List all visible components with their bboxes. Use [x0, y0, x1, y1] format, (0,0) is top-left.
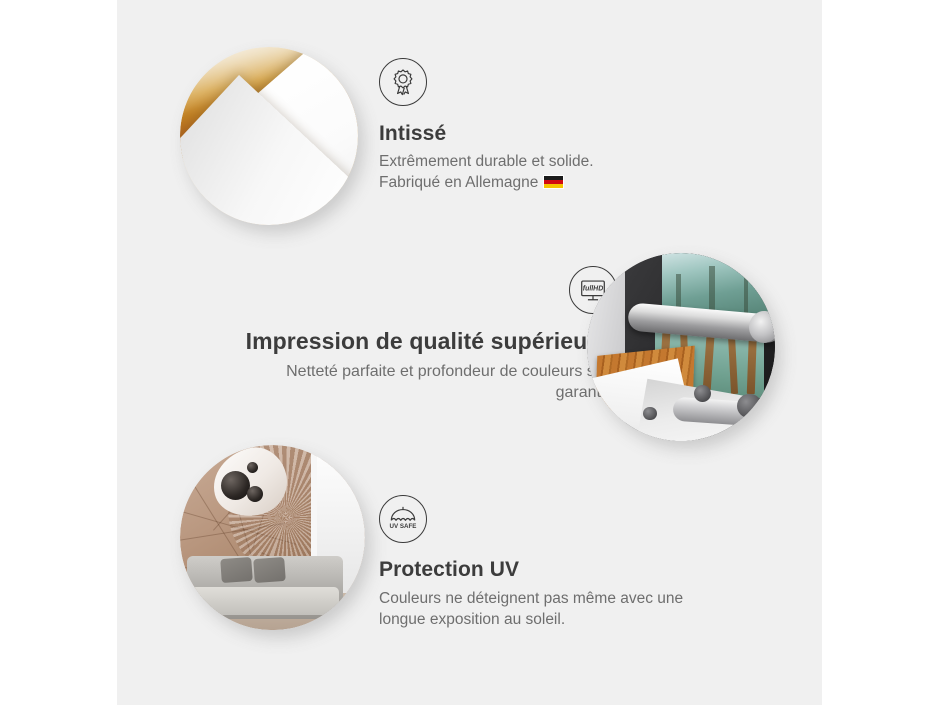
press-knob-one — [694, 385, 711, 402]
feature-quality: fullHD Impression de qualité supérieure!… — [177, 266, 617, 403]
feature-body: Couleurs ne déteignent pas même avec une… — [379, 588, 719, 630]
room-wallpaper-sphere-small — [247, 462, 258, 473]
press-knob-two — [643, 407, 656, 420]
room-cushion-left — [220, 557, 253, 583]
content-panel: Intissé Extrêmement durable et solide. F… — [117, 0, 822, 705]
feature-body: Netteté parfaite et profondeur de couleu… — [177, 361, 617, 403]
feature-body-line1: Couleurs ne déteignent pas même avec une — [379, 590, 683, 607]
uv-safe-umbrella-icon: UV SAFE — [379, 495, 427, 543]
feature-intisse: Intissé Extrêmement durable et solide. F… — [379, 58, 679, 193]
feature-title: Impression de qualité supérieure! — [177, 328, 617, 355]
infographic-page: Intissé Extrêmement durable et solide. F… — [0, 0, 940, 705]
press-roller-end-cap — [737, 394, 761, 418]
non-woven-wallpaper-peel-photo — [180, 47, 358, 225]
feature-body-line1: Netteté parfaite et profondeur de couleu… — [286, 363, 617, 380]
printing-press-photo — [587, 253, 775, 441]
feature-body: Extrêmement durable et solide. Fabriqué … — [379, 151, 679, 193]
feature-title: Protection UV — [379, 558, 719, 582]
room-sofa-seat — [191, 587, 339, 615]
living-room-wallpaper-photo — [180, 445, 365, 630]
german-flag-icon — [543, 175, 564, 189]
feature-uv: UV SAFE Protection UV Couleurs ne déteig… — [379, 495, 719, 630]
room-cushion-right — [253, 557, 286, 583]
feature-body-line2: Fabriqué en Allemagne — [379, 174, 538, 191]
feature-title: Intissé — [379, 122, 679, 146]
feature-body-line2: longue exposition au soleil. — [379, 611, 565, 628]
award-rosette-icon — [379, 58, 427, 106]
feature-body-line1: Extrêmement durable et solide. — [379, 153, 594, 170]
svg-text:UV SAFE: UV SAFE — [390, 523, 417, 530]
